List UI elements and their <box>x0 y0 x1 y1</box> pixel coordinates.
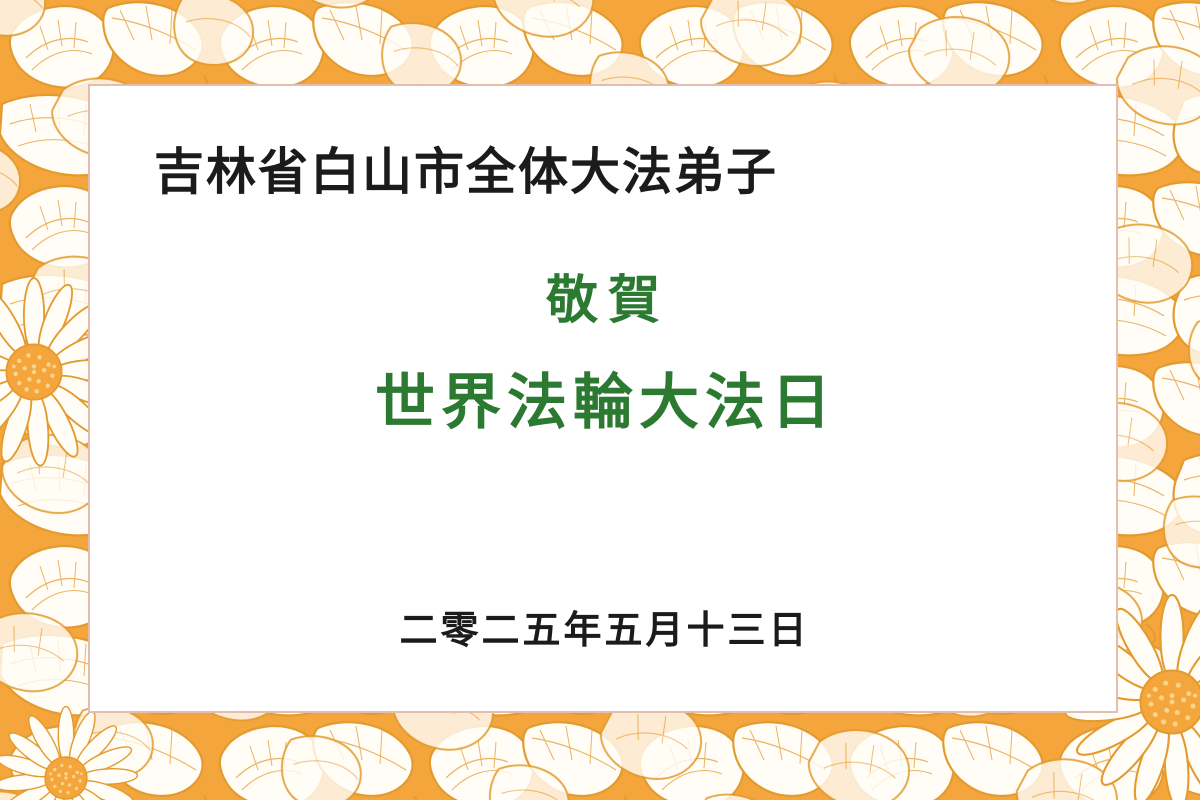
greeting-poster: 吉林省白山市全体大法弟子 敬賀 世界法輪大法日 二零二五年五月十三日 <box>0 0 1200 800</box>
recipient-text: 吉林省白山市全体大法弟子 <box>154 132 778 204</box>
occasion-title: 世界法輪大法日 <box>90 354 1116 441</box>
greeting-card: 吉林省白山市全体大法弟子 敬賀 世界法輪大法日 二零二五年五月十三日 <box>88 84 1118 713</box>
card-inner: 吉林省白山市全体大法弟子 敬賀 世界法輪大法日 二零二五年五月十三日 <box>90 86 1116 711</box>
date-text: 二零二五年五月十三日 <box>90 599 1116 654</box>
greeting-text: 敬賀 <box>90 258 1116 333</box>
